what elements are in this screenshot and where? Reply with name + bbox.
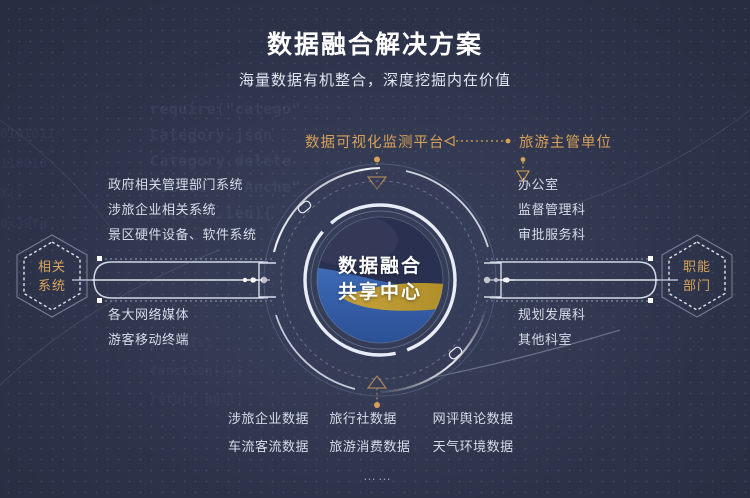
list-item[interactable]: 政府相关管理部门系统 (108, 172, 257, 197)
page-title: 数据融合解决方案 (0, 25, 750, 61)
list-item[interactable]: 各大网络媒体 (108, 302, 189, 327)
left-bottom-source-list: 各大网络媒体 游客移动终端 (108, 302, 189, 352)
hex-right-line1: 职能 (683, 257, 711, 276)
list-item[interactable]: 车流客流数据 (228, 433, 323, 461)
list-item[interactable]: 景区硬件设备、软件系统 (108, 222, 257, 247)
infographic-canvas: require("catego" Category.json Category.… (0, 0, 750, 498)
left-top-source-list: 政府相关管理部门系统 涉旅企业相关系统 景区硬件设备、软件系统 (108, 172, 257, 247)
table-row: 车流客流数据 旅游消费数据 天气环境数据 (228, 433, 528, 461)
page-subtitle: 海量数据有机整合，深度挖掘内在价值 (0, 69, 750, 90)
list-item[interactable]: 旅游消费数据 (323, 433, 424, 461)
list-item[interactable]: 审批服务科 (518, 222, 586, 247)
arrow-down-icon-right-column (512, 157, 534, 185)
list-item[interactable]: 旅行社数据 (323, 405, 424, 433)
hex-left-line2: 系统 (38, 276, 66, 295)
list-item[interactable]: 游客移动终端 (108, 327, 189, 352)
list-item[interactable]: 网评舆论数据 (425, 405, 528, 433)
list-item[interactable]: 规划发展科 (518, 302, 586, 327)
table-row: 涉旅企业数据 旅行社数据 网评舆论数据 (228, 405, 528, 433)
hex-functional-departments[interactable]: 职能 部门 (659, 233, 735, 319)
hex-related-systems[interactable]: 相关 系统 (14, 233, 90, 319)
list-item[interactable]: 天气环境数据 (425, 433, 528, 461)
list-item[interactable]: 其他科室 (518, 327, 586, 352)
label-tourism-authority[interactable]: 旅游主管单位 (519, 131, 612, 152)
list-item[interactable]: 监督管理科 (518, 197, 586, 222)
data-fusion-core[interactable]: 数据融合 共享中心 (245, 145, 515, 415)
hex-right-line2: 部门 (683, 276, 711, 295)
bottom-data-list: 涉旅企业数据 旅行社数据 网评舆论数据 车流客流数据 旅游消费数据 天气环境数据… (228, 405, 528, 461)
right-bottom-department-list: 规划发展科 其他科室 (518, 302, 586, 352)
hex-left-line1: 相关 (38, 257, 66, 276)
list-item[interactable]: 涉旅企业相关系统 (108, 197, 257, 222)
ellipsis-indicator: …… (228, 468, 528, 483)
list-item[interactable]: 涉旅企业数据 (228, 405, 323, 433)
